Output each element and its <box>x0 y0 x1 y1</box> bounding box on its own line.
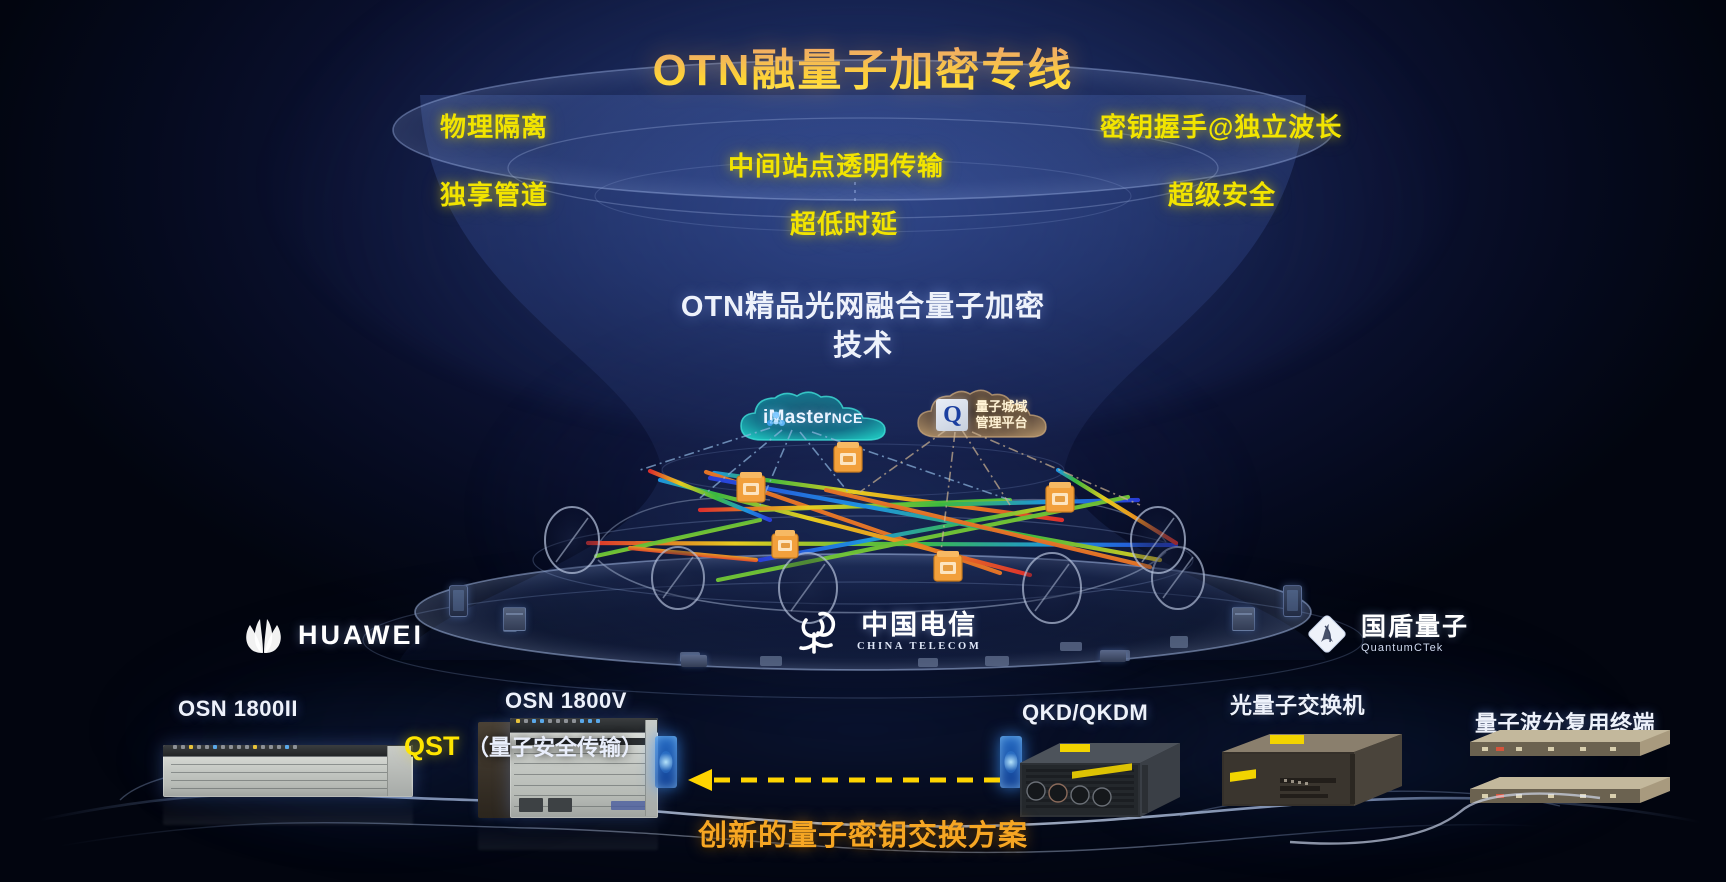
qst-desc: （量子安全传输） <box>467 735 643 760</box>
mobile-phone-icon-right <box>1283 585 1302 617</box>
ring-node <box>545 507 599 573</box>
feature-center-1: 中间站点透明传输 <box>728 146 944 183</box>
qst-label: QST （量子安全传输） <box>404 730 643 762</box>
feature-right-1: 密钥握手@独立波长 <box>1100 107 1342 144</box>
quantumctek-diamond-icon <box>1305 612 1349 656</box>
feature-right-2: 超级安全 <box>1168 175 1276 212</box>
osn1800ii-leds <box>173 745 297 749</box>
ring-node <box>1152 547 1204 609</box>
imaster-nce-cloud[interactable]: iMasterNCE <box>733 388 893 448</box>
china-telecom-wordmark: 中国电信 CHINA TELECOM <box>857 612 981 653</box>
china-telecom-logo: 中国电信 CHINA TELECOM <box>795 608 981 656</box>
china-telecom-mark-icon <box>795 608 845 656</box>
quantum-platform-line1: 量子城域 <box>975 399 1027 415</box>
otn-node-icon <box>737 472 765 502</box>
osn1800ii-topbar <box>163 745 413 757</box>
diagram-canvas: OTN融量子加密专线 物理隔离 独享管道 中间站点透明传输 超低时延 密钥握手@… <box>0 0 1726 882</box>
imaster-cloud-content: iMasterNCE <box>763 407 863 429</box>
quantum-sensor-left <box>655 736 677 788</box>
laptop-icon-2 <box>1100 650 1126 662</box>
quantumctek-wordmark: 国盾量子 QuantumCTek <box>1361 615 1469 654</box>
q-letter: Q <box>943 403 962 427</box>
device-label-optical-switch: 光量子交换机 <box>1230 688 1365 720</box>
huawei-logo: HUAWEI <box>240 615 424 655</box>
server-icon-left <box>503 607 526 631</box>
huawei-flower-icon <box>240 615 286 655</box>
quantumctek-en: QuantumCTek <box>1361 643 1469 654</box>
device-quantum-wdm-terminal-lower <box>1470 775 1670 817</box>
quantumctek-cn: 国盾量子 <box>1361 615 1469 640</box>
imaster-molecule-icon <box>763 407 789 433</box>
china-telecom-en: CHINA TELECOM <box>857 642 981 653</box>
otn-node-icon <box>934 551 962 581</box>
feature-left-2: 独享管道 <box>440 175 548 212</box>
wdm-terminal-unit-graphic-2 <box>1470 775 1670 817</box>
otn-node-icon <box>1046 482 1074 512</box>
quantum-platform-label: 量子城域 管理平台 <box>975 399 1027 432</box>
device-label-osn-1800ii: OSN 1800II <box>178 696 298 722</box>
page-title: OTN融量子加密专线 <box>0 34 1726 98</box>
imaster-nce-text: NCE <box>832 410 863 426</box>
bottom-caption: 创新的量子密钥交换方案 <box>0 812 1726 854</box>
laptop-icon-1 <box>681 655 707 667</box>
device-label-qkd-qkdm: QKD/QKDM <box>1022 700 1148 726</box>
device-osn-1800ii <box>163 745 413 797</box>
osn1800v-port-b <box>548 798 572 812</box>
optical-switch-chassis-graphic <box>1222 730 1402 822</box>
wdm-terminal-unit-graphic <box>1470 728 1670 770</box>
center-tech-title: OTN精品光网融合量子加密技术 <box>673 288 1053 365</box>
mobile-phone-icon <box>449 585 468 617</box>
quantum-platform-line2: 管理平台 <box>975 415 1027 431</box>
quantumctek-logo: 国盾量子 QuantumCTek <box>1305 612 1469 656</box>
device-optical-quantum-switch <box>1222 730 1402 822</box>
device-quantum-wdm-terminal-upper <box>1470 728 1670 770</box>
server-icon-right <box>1232 607 1255 631</box>
otn-node-icon <box>772 530 798 558</box>
qst-abbr: QST <box>404 731 460 761</box>
osn1800ii-slots <box>171 761 406 793</box>
quantum-sensor-right <box>1000 736 1022 788</box>
osn1800v-leds <box>516 719 600 723</box>
device-label-osn-1800v: OSN 1800V <box>505 688 627 714</box>
quantum-platform-cloud[interactable]: Q 量子城域 管理平台 <box>912 385 1052 445</box>
feature-left-1: 物理隔离 <box>440 107 548 144</box>
ring-node <box>1023 553 1081 623</box>
china-telecom-cn: 中国电信 <box>861 612 977 639</box>
quantum-q-badge-icon: Q <box>936 399 968 431</box>
huawei-logo-text: HUAWEI <box>298 620 424 651</box>
ring-node <box>1131 507 1185 573</box>
osn1800v-port-c <box>611 801 649 810</box>
osn1800v-port-a <box>519 798 543 812</box>
feature-center-2: 超低时延 <box>790 204 898 241</box>
ring-node <box>652 547 704 609</box>
quantum-cloud-content: Q 量子城域 管理平台 <box>936 399 1027 432</box>
